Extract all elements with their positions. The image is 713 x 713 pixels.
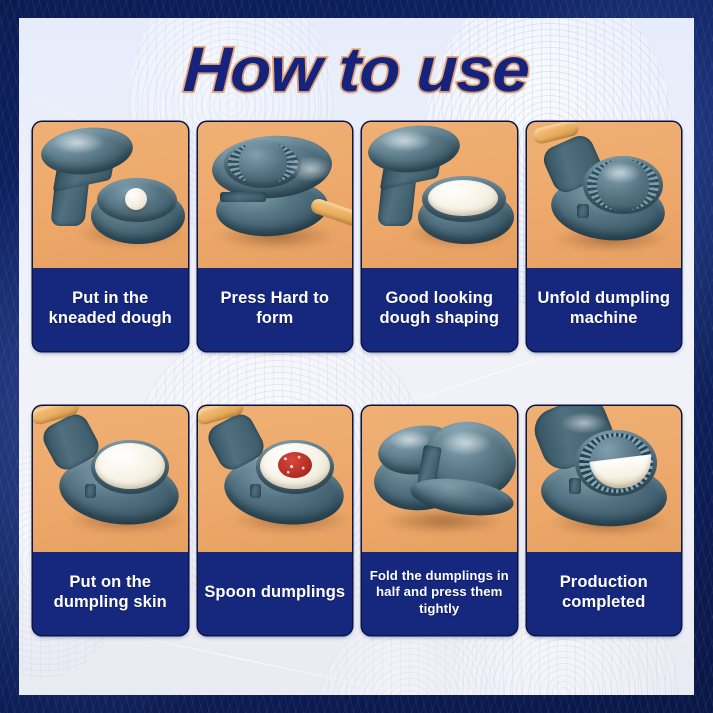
page-title: How to use <box>182 34 530 106</box>
step-caption-2: Press Hard to form <box>198 268 353 351</box>
step-photo-8 <box>527 406 682 552</box>
step-caption-1: Put in the kneaded dough <box>33 268 188 351</box>
step-panel-7[interactable]: Fold the dumplings in half and press the… <box>362 406 517 635</box>
step-caption-4: Unfold dumpling machine <box>527 268 682 351</box>
step-panel-4[interactable]: Unfold dumpling machine <box>527 122 682 351</box>
step-panel-1[interactable]: Put in the kneaded dough <box>33 122 188 351</box>
step-panel-6[interactable]: Spoon dumplings <box>198 406 353 635</box>
step-photo-1 <box>33 122 188 268</box>
step-caption-6: Spoon dumplings <box>198 552 353 635</box>
content-card: How to use Put in the kneaded dough <box>19 18 694 695</box>
step-photo-3 <box>362 122 517 268</box>
step-panel-3[interactable]: Good looking dough shaping <box>362 122 517 351</box>
poster-root: How to use Put in the kneaded dough <box>0 0 713 713</box>
step-caption-5: Put on the dumpling skin <box>33 552 188 635</box>
step-panel-5[interactable]: Put on the dumpling skin <box>33 406 188 635</box>
step-caption-8: Production completed <box>527 552 682 635</box>
steps-row-1: Put in the kneaded dough Press Hard to f… <box>33 122 681 351</box>
step-photo-6 <box>198 406 353 552</box>
step-photo-7 <box>362 406 517 552</box>
step-panel-2[interactable]: Press Hard to form <box>198 122 353 351</box>
step-photo-4 <box>527 122 682 268</box>
step-panel-8[interactable]: Production completed <box>527 406 682 635</box>
step-photo-5 <box>33 406 188 552</box>
step-caption-3: Good looking dough shaping <box>362 268 517 351</box>
step-caption-7: Fold the dumplings in half and press the… <box>362 552 517 635</box>
title-band: How to use <box>19 18 694 122</box>
step-photo-2 <box>198 122 353 268</box>
steps-row-2: Put on the dumpling skin Spoon dumplings <box>33 406 681 635</box>
